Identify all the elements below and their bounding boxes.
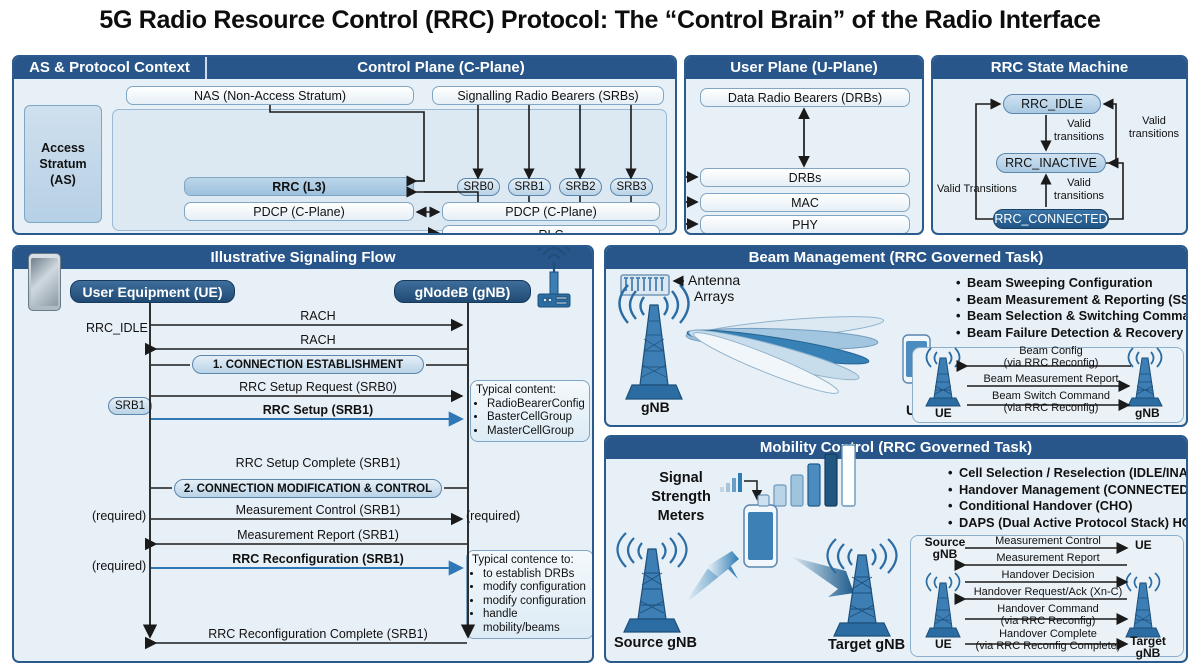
beam-sub-row-2-text: Beam Switch Command [969, 391, 1133, 403]
mobility-sub-row-5: Handover Complete (via RRC Reconfig Comp… [961, 629, 1135, 652]
mobility-sub-left-bot: UE [935, 637, 952, 651]
sub-source-tower [926, 573, 960, 637]
mobility-bullet-3: DAPS (Dual Active Protocol Stack) HO [959, 515, 1188, 530]
sub-target-tower [1126, 573, 1160, 637]
mobility-sub-row-4-text: Handover Command [967, 604, 1129, 616]
target-gnb-label: Target gNB [828, 637, 905, 653]
mobility-sub-row-5-text: Handover Complete [961, 629, 1135, 641]
beam-sub-row-0-text: Beam Config [973, 346, 1129, 358]
beam-sub-row-2: Beam Switch Command (via RRC Reconfig) [969, 391, 1133, 414]
beam-bullet-1: Beam Measurement & Reporting (SSB/CSI-RS… [967, 292, 1188, 307]
signal-bars-small-icon [720, 473, 742, 492]
mobility-sub-row-2: Handover Decision [967, 569, 1129, 581]
sub-ue-tower [926, 348, 960, 406]
beam-bullet-0: Beam Sweeping Configuration [967, 275, 1153, 290]
mobility-sub-row-1: Measurement Report [967, 552, 1129, 564]
mobility-sub-row-4: Handover Command (via RRC Reconfig) [967, 604, 1129, 627]
mobility-sub-left-top: Source gNB [923, 536, 967, 560]
mobility-sub-right-bot: Target gNB [1123, 635, 1173, 659]
mobility-bullet-0: Cell Selection / Reselection (IDLE/INACT… [959, 465, 1188, 480]
signaling-flow-arrows [14, 247, 594, 663]
panel-rrc-state-machine: RRC State Machine RRC_IDLE RRC_INACTIVE … [931, 55, 1188, 235]
mobility-sub-row-4-sub: (via RRC Reconfig) [967, 616, 1129, 628]
panel-mobility-control: Mobility Control (RRC Governed Task) Sig… [604, 435, 1188, 663]
beam-sub-row-0-sub: (via RRC Reconfig) [973, 358, 1129, 370]
beam-sub-row-1: Beam Measurement Report [969, 373, 1133, 385]
uplane-connectors [686, 57, 924, 235]
beam-sub-row-0: Beam Config (via RRC Reconfig) [973, 346, 1129, 369]
beam-bullet-3: Beam Failure Detection & Recovery [967, 325, 1183, 340]
page-title: 5G Radio Resource Control (RRC) Protocol… [0, 6, 1200, 35]
mobility-sub-row-5-sub: (via RRC Reconfig Complete) [961, 641, 1135, 653]
mobility-bullet-2: Conditional Handover (CHO) [959, 498, 1132, 513]
beam-sub-row-2-sub: (via RRC Reconfig) [969, 403, 1133, 415]
mobility-bullets: •Cell Selection / Reselection (IDLE/INAC… [948, 465, 1188, 531]
mobility-bullet-1: Handover Management (CONNECTED) [959, 482, 1188, 497]
panel-signaling-flow: Illustrative Signaling Flow User Equipme… [12, 245, 594, 663]
source-gnb-label: Source gNB [614, 635, 697, 651]
beam-bullets: •Beam Sweeping Configuration •Beam Measu… [956, 275, 1188, 341]
beam-sub-row-1-text: Beam Measurement Report [983, 373, 1118, 385]
mobility-sub-left-top-2: gNB [923, 548, 967, 560]
mobility-sub-diagram: Measurement Control Measurement Report H… [910, 535, 1184, 657]
mobility-sub-right-top: UE [1135, 538, 1152, 552]
mobility-sub-row-3: Handover Request/Ack (Xn-C) [961, 586, 1135, 598]
beam-sub-left-label: UE [935, 406, 952, 420]
beam-sub-diagram: Beam Config (via RRC Reconfig) Beam Meas… [912, 347, 1184, 423]
signal-bars-large [758, 445, 855, 506]
cplane-connectors [14, 57, 677, 235]
beam-gnb-label: gNB [641, 399, 670, 415]
mobility-sub-row-0: Measurement Control [967, 535, 1129, 547]
beam-sub-right-label: gNB [1135, 406, 1160, 420]
state-machine-arrows [933, 57, 1188, 235]
beam-bullet-2: Beam Selection & Switching Command [967, 308, 1188, 323]
panel-control-plane: AS & Protocol Context Control Plane (C-P… [12, 55, 677, 235]
mobility-sub-right-bot-2: gNB [1123, 647, 1173, 659]
sub-gnb-tower [1128, 348, 1162, 406]
panel-user-plane: User Plane (U-Plane) Data Radio Bearers … [684, 55, 924, 235]
panel-beam-management: Beam Management (RRC Governed Task) [604, 245, 1188, 427]
mobility-ue-phone [744, 505, 777, 567]
source-gnb-tower [618, 533, 687, 632]
